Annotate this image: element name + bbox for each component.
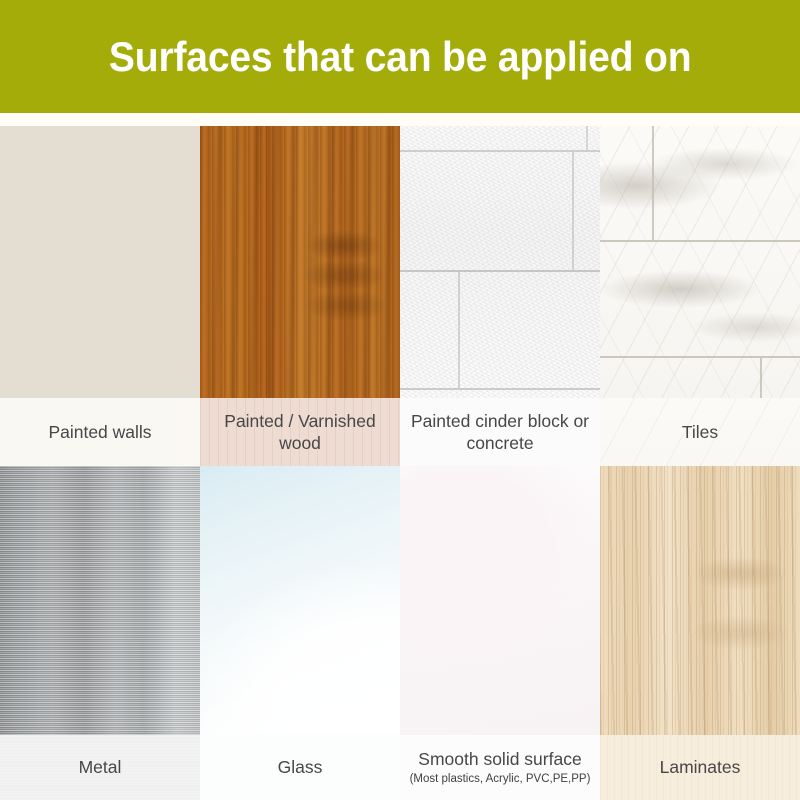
label-text: Laminates bbox=[660, 756, 741, 778]
header-banner: Surfaces that can be applied on bbox=[0, 0, 800, 113]
painted-walls-swatch-image bbox=[0, 126, 200, 398]
surfaces-infographic: Surfaces that can be applied on Painted … bbox=[0, 0, 800, 800]
label-text: Smooth solid surface bbox=[418, 748, 581, 770]
label-text: Tiles bbox=[682, 421, 718, 443]
surface-grid: Painted walls Painted / Varnished wood P… bbox=[0, 126, 800, 800]
surface-cell-cinder-block[interactable]: Painted cinder block or concrete bbox=[400, 126, 600, 466]
surface-cell-painted-walls[interactable]: Painted walls bbox=[0, 126, 200, 466]
surface-label-smooth-solid-surface: Smooth solid surface (Most plastics, Acr… bbox=[400, 735, 600, 800]
label-text: Metal bbox=[79, 756, 122, 778]
surface-label-tiles: Tiles bbox=[600, 398, 800, 466]
surface-cell-varnished-wood[interactable]: Painted / Varnished wood bbox=[200, 126, 400, 466]
tiles-swatch-image bbox=[600, 126, 800, 398]
label-text: Painted / Varnished wood bbox=[206, 410, 394, 455]
surface-cell-laminates[interactable]: Laminates bbox=[600, 466, 800, 800]
surface-label-varnished-wood: Painted / Varnished wood bbox=[200, 398, 400, 466]
varnished-wood-swatch-image bbox=[200, 126, 400, 398]
label-subtext: (Most plastics, Acrylic, PVC,PE,PP) bbox=[410, 773, 591, 787]
surface-label-metal: Metal bbox=[0, 735, 200, 800]
label-text: Painted cinder block or concrete bbox=[406, 410, 594, 455]
laminates-swatch-image bbox=[600, 466, 800, 735]
surface-label-laminates: Laminates bbox=[600, 735, 800, 800]
glass-swatch-image bbox=[200, 466, 400, 735]
surface-cell-glass[interactable]: Glass bbox=[200, 466, 400, 800]
page-title: Surfaces that can be applied on bbox=[109, 36, 691, 78]
label-text: Painted walls bbox=[48, 421, 151, 443]
surface-label-cinder-block: Painted cinder block or concrete bbox=[400, 398, 600, 466]
cinder-block-swatch-image bbox=[400, 126, 600, 398]
surface-label-painted-walls: Painted walls bbox=[0, 398, 200, 466]
label-text: Glass bbox=[278, 756, 323, 778]
smooth-solid-surface-swatch-image bbox=[400, 466, 600, 735]
surface-cell-metal[interactable]: Metal bbox=[0, 466, 200, 800]
surface-label-glass: Glass bbox=[200, 735, 400, 800]
surface-cell-smooth-solid-surface[interactable]: Smooth solid surface (Most plastics, Acr… bbox=[400, 466, 600, 800]
metal-swatch-image bbox=[0, 466, 200, 735]
surface-cell-tiles[interactable]: Tiles bbox=[600, 126, 800, 466]
